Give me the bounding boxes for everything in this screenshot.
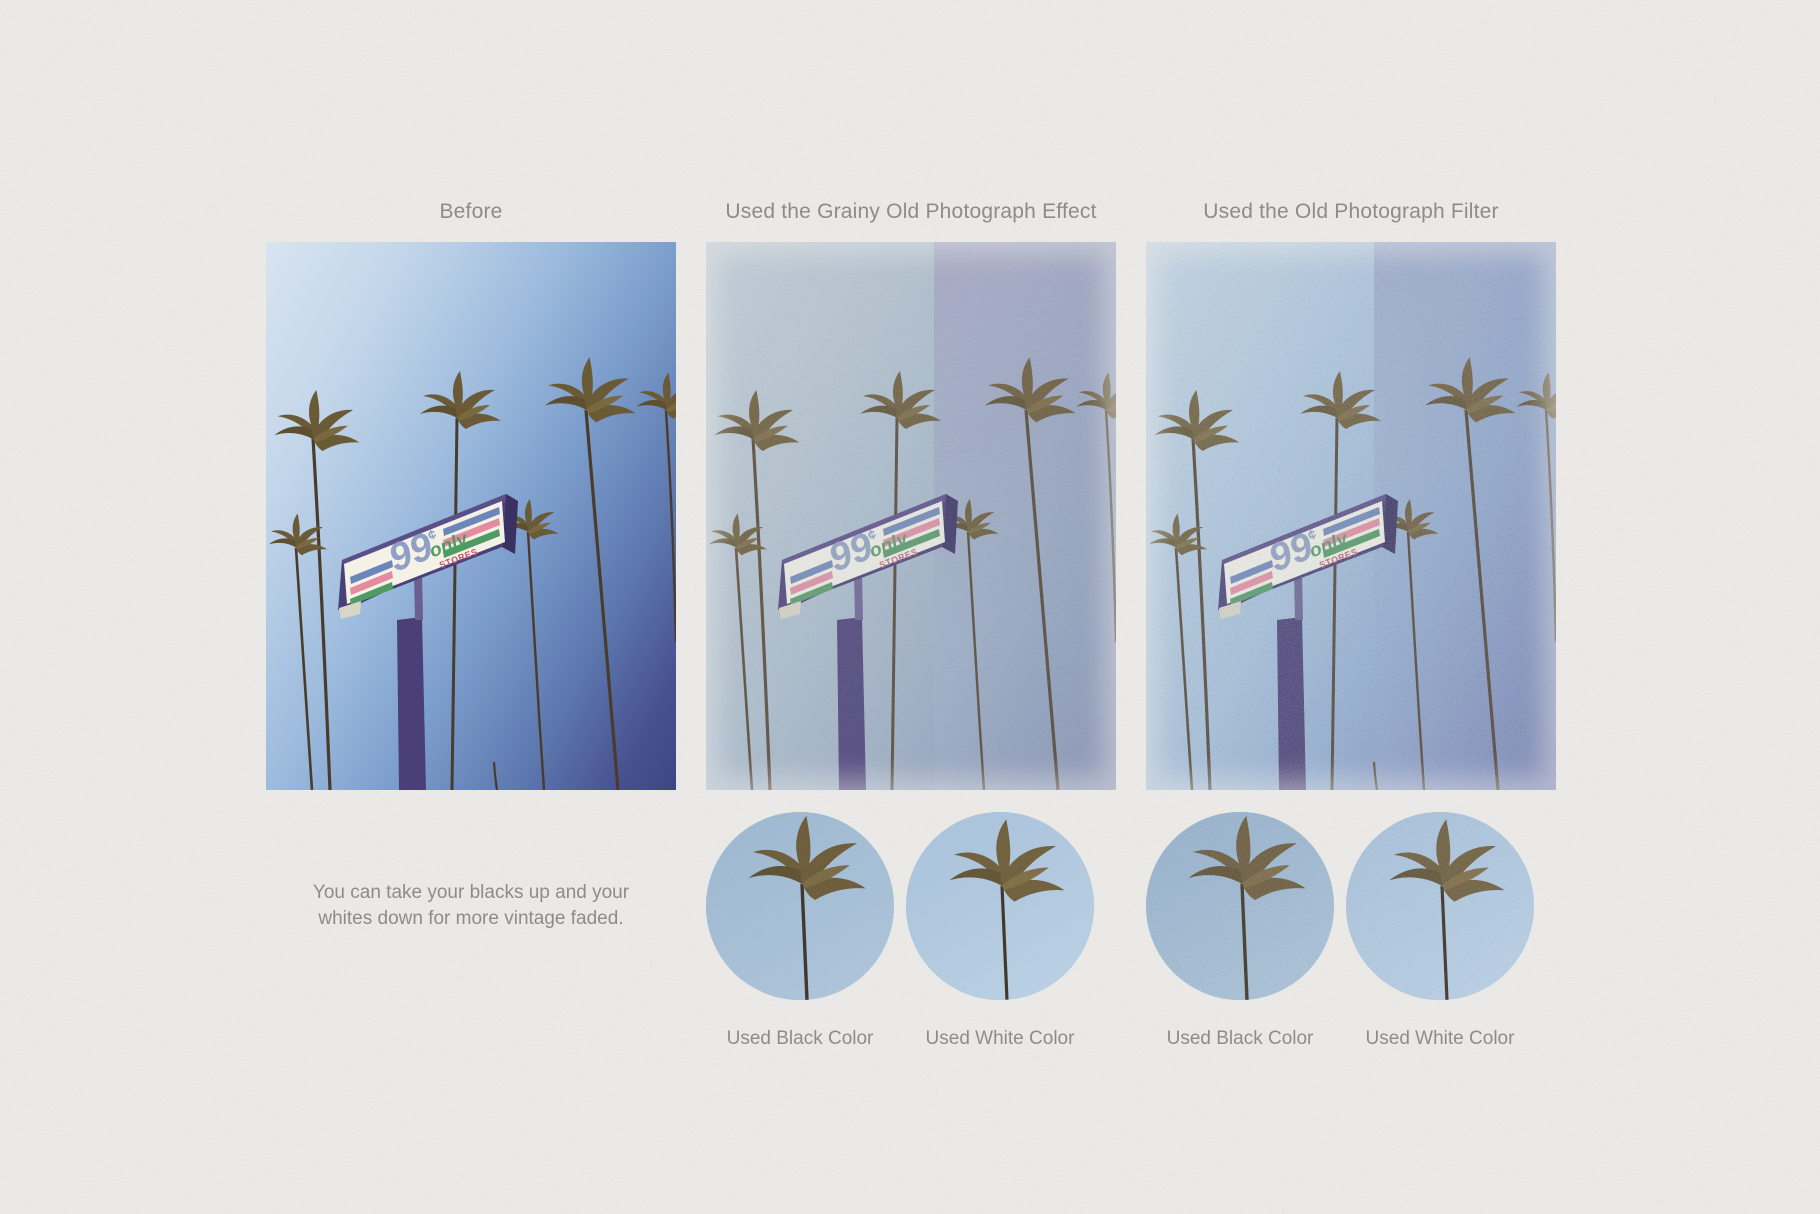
palm-tree-right-tall: [985, 357, 1076, 790]
thumbnail-caption-filter-white: Used White Color: [1346, 1028, 1534, 1050]
thumb-scene-2: [906, 812, 1094, 1000]
billboard-pole: [791, 571, 866, 790]
palm-tree-center-tall: [1300, 371, 1381, 790]
panel-heading-old-photograph-filter: Used the Old Photograph Filter: [1146, 200, 1556, 224]
panel-heading-before: Before: [266, 200, 676, 224]
photo-panel-before[interactable]: 99 ¢ only STORES: [266, 242, 676, 790]
palm-tree-far-right-edge: [1076, 372, 1116, 642]
scene-grainy: 99 ¢ only STORES: [706, 242, 1116, 790]
photo-panel-old-photograph-filter[interactable]: 99 ¢ only STORES: [1146, 242, 1556, 790]
scene-before: 99 ¢ only STORES: [266, 242, 676, 790]
billboard-pole: [351, 571, 426, 790]
thumbnail-caption-filter-black: Used Black Color: [1146, 1028, 1334, 1050]
thumb-scene-3: [1146, 812, 1334, 1000]
panel-heading-grainy-effect: Used the Grainy Old Photograph Effect: [706, 200, 1116, 224]
thumbnail-caption-grainy-white: Used White Color: [906, 1028, 1094, 1050]
palm-tree-bottom-center: [477, 762, 513, 790]
body-caption-line-2: whites down for more vintage faded.: [266, 906, 676, 932]
thumbnail-grainy-white-color[interactable]: [906, 812, 1094, 1000]
body-caption-line-1: You can take your blacks up and your: [266, 880, 676, 906]
body-caption: You can take your blacks up and your whi…: [266, 880, 676, 931]
photo-panel-grainy-effect[interactable]: 99 ¢ only STORES: [706, 242, 1116, 790]
comparison-stage: Before Used the Grainy Old Photograph Ef…: [0, 0, 1820, 1214]
thumb-scene-4: [1346, 812, 1534, 1000]
palm-tree-far-right-edge: [636, 372, 676, 642]
thumbnail-filter-white-color[interactable]: [1346, 812, 1534, 1000]
thumbnail-grainy-black-color[interactable]: [706, 812, 894, 1000]
palm-tree-right-tall: [545, 357, 636, 790]
palm-tree-center-tall: [860, 371, 941, 790]
palm-tree-far-right-edge: [1516, 372, 1556, 642]
palm-tree-center-tall: [420, 371, 501, 790]
billboard-pole: [1231, 571, 1306, 790]
palm-tree-right-tall: [1425, 357, 1516, 790]
scene-filter: 99 ¢ only STORES: [1146, 242, 1556, 790]
thumbnail-filter-black-color[interactable]: [1146, 812, 1334, 1000]
thumbnail-caption-grainy-black: Used Black Color: [706, 1028, 894, 1050]
palm-tree-bottom-center: [1357, 762, 1393, 790]
thumb-scene-1: [706, 812, 894, 1000]
